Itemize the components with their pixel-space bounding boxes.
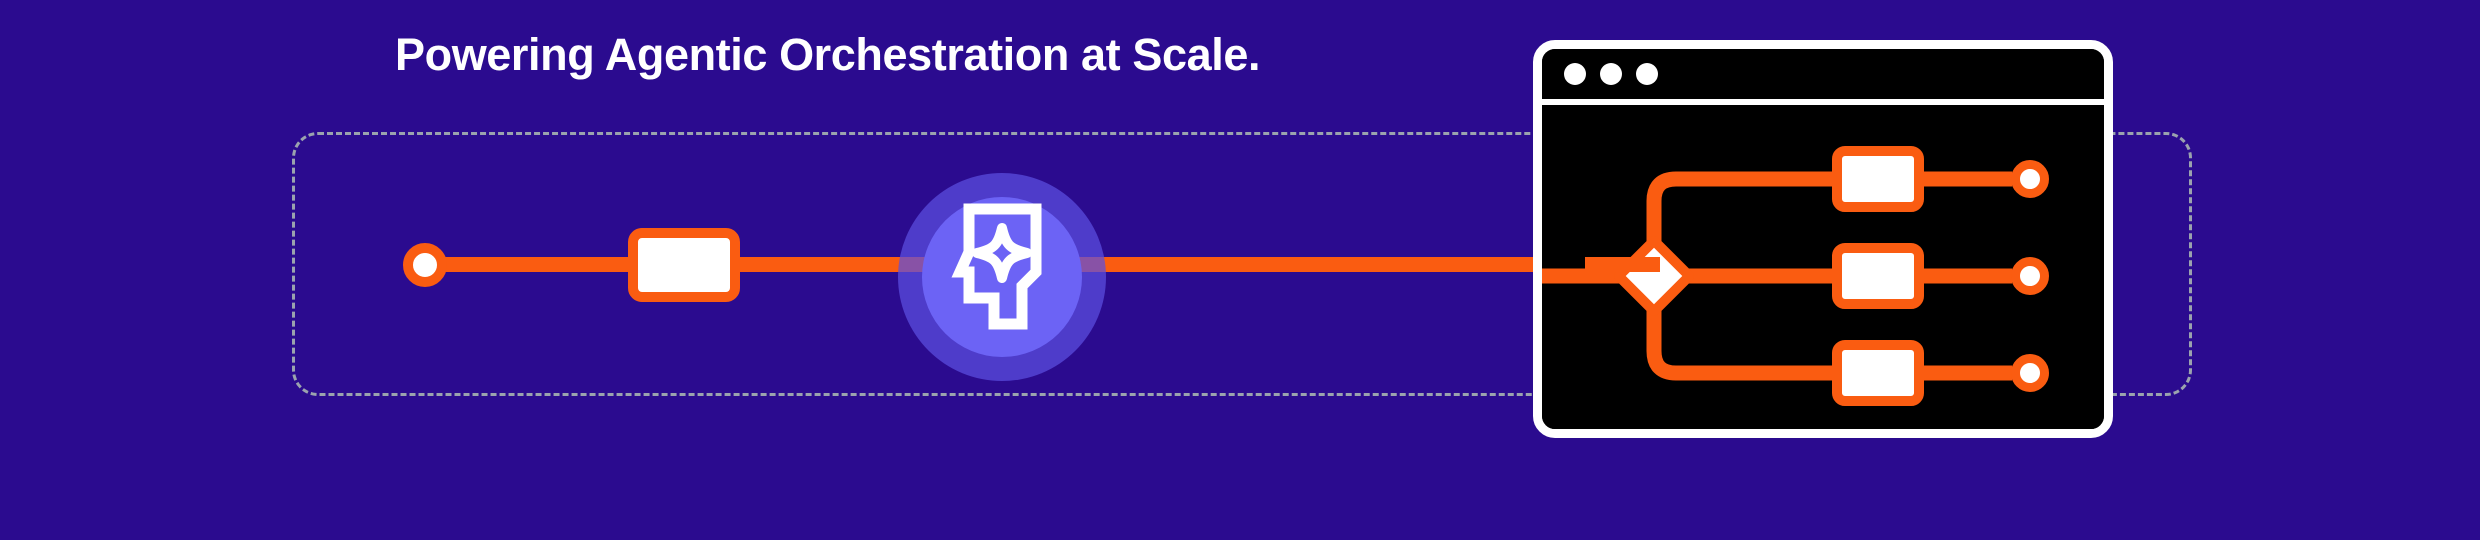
branch-end-node-icon[interactable] bbox=[2011, 160, 2049, 198]
browser-window bbox=[1533, 40, 2113, 438]
branch-task-node-icon[interactable] bbox=[1832, 146, 1924, 212]
start-node-icon[interactable] bbox=[403, 243, 447, 287]
page-title: Powering Agentic Orchestration at Scale. bbox=[395, 32, 1260, 77]
pipeline-connector-line-inside-window bbox=[1585, 257, 1660, 272]
branch-task-node-icon[interactable] bbox=[1832, 243, 1924, 309]
branch-task-node-icon[interactable] bbox=[1832, 340, 1924, 406]
close-dot-icon[interactable] bbox=[1564, 63, 1586, 85]
ai-head-sparkle-icon[interactable] bbox=[950, 200, 1054, 332]
browser-title-bar bbox=[1542, 49, 2104, 105]
branch-end-node-icon[interactable] bbox=[2011, 257, 2049, 295]
maximize-dot-icon[interactable] bbox=[1636, 63, 1658, 85]
hero-banner: Powering Agentic Orchestration at Scale. bbox=[0, 0, 2480, 540]
task-node-icon[interactable] bbox=[628, 228, 740, 302]
minimize-dot-icon[interactable] bbox=[1600, 63, 1622, 85]
branch-end-node-icon[interactable] bbox=[2011, 354, 2049, 392]
